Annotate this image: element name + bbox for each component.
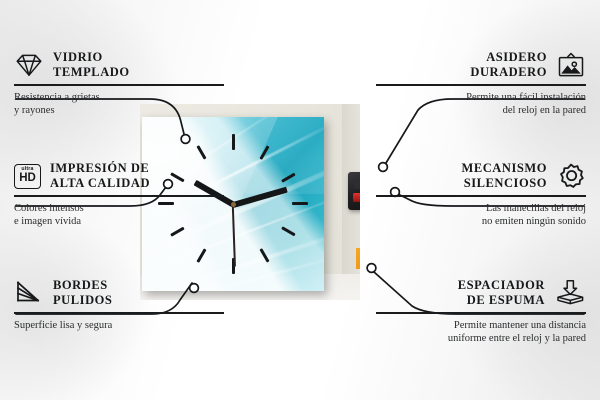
mechanism-body [348,172,360,210]
feature-title: MECANISMO SILENCIOSO [461,161,547,191]
feature-description: Colores intensos e imagen vívida [14,202,224,228]
feature-header: VIDRIO TEMPLADO [14,50,224,80]
feature-header: ultra HD IMPRESIÓN DE ALTA CALIDAD [14,161,224,191]
feature-description: Permite mantener una distancia uniforme … [376,319,586,345]
diamond-icon [14,52,44,78]
clock-mechanism-part [348,168,360,210]
feature-divider [14,312,224,314]
feature-title: ESPACIADOR DE ESPUMA [458,278,545,308]
clock-tick-12 [232,134,235,150]
feature-divider [376,84,586,86]
feature-bordes-pulidos: BORDES PULIDOS Superficie lisa y segura [14,278,224,332]
hanging-picture-frame-icon [556,52,586,79]
feature-divider [376,195,586,197]
feature-title: VIDRIO TEMPLADO [53,50,130,80]
clock-center-hub [231,202,236,207]
feature-title: IMPRESIÓN DE ALTA CALIDAD [50,161,150,191]
foam-spacer-part [356,248,360,269]
feature-impresion-alta-calidad: ultra HD IMPRESIÓN DE ALTA CALIDAD Color… [14,161,224,228]
feature-description: Superficie lisa y segura [14,319,224,332]
feature-vidrio-templado: VIDRIO TEMPLADO Resistencia a grietas y … [14,50,224,117]
arrow-down-onto-pad-icon [554,279,586,307]
feature-divider [14,195,224,197]
feature-header: ESPACIADOR DE ESPUMA [376,278,586,308]
ultra-hd-badge-icon: ultra HD [14,164,41,189]
feature-espaciador-de-espuma: ESPACIADOR DE ESPUMA Permite mantener un… [376,278,586,345]
feature-mecanismo-silencioso: MECANISMO SILENCIOSO Las manecillas del … [376,161,586,228]
infographic-canvas: VIDRIO TEMPLADO Resistencia a grietas y … [0,0,600,400]
feature-description: Resistencia a grietas y rayones [14,91,224,117]
feature-header: BORDES PULIDOS [14,278,224,308]
feature-header: MECANISMO SILENCIOSO [376,161,586,191]
feature-title: ASIDERO DURADERO [470,50,547,80]
feature-description: Las manecillas del reloj no emiten ningú… [376,202,586,228]
feature-divider [376,312,586,314]
mechanism-battery [353,193,360,202]
diagonal-lines-icon [14,280,44,306]
clock-tick-3 [292,202,308,205]
feature-asidero-duradero: ASIDERO DURADERO Permite una fácil insta… [376,50,586,117]
feature-divider [14,84,224,86]
feature-header: ASIDERO DURADERO [376,50,586,80]
connector-endpoint-espaciador [367,264,376,273]
feature-title: BORDES PULIDOS [53,278,112,308]
ultra-hd-badge-large-text: HD [19,173,36,185]
mechanism-panel-left [354,179,360,189]
feature-description: Permite una fácil instalación del reloj … [376,91,586,117]
gear-icon [556,162,586,190]
